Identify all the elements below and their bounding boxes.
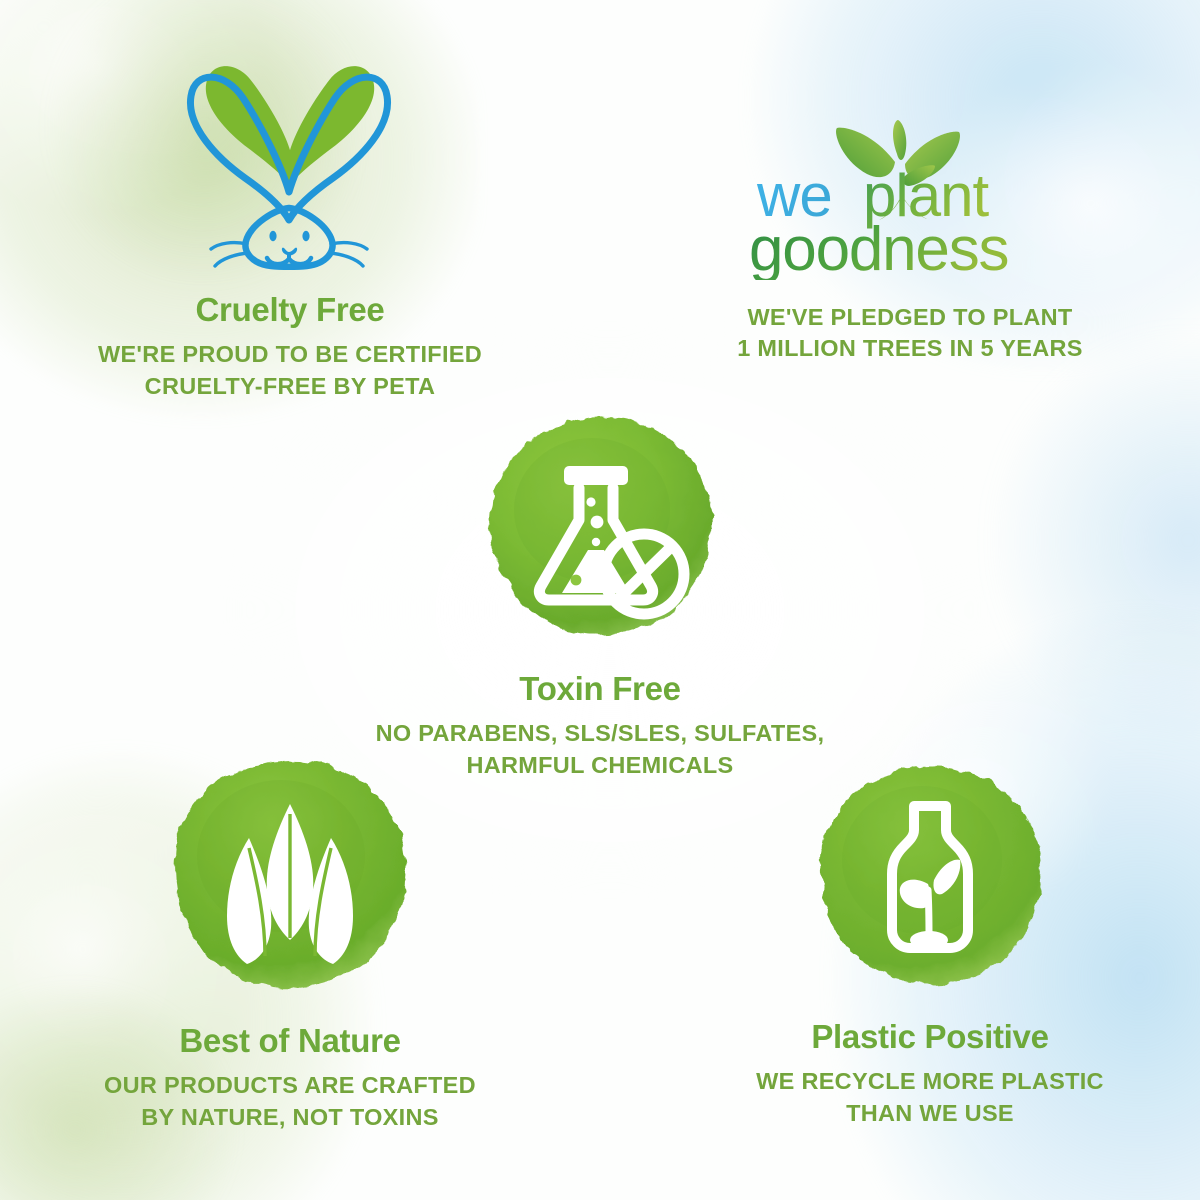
bunny-right-eye xyxy=(302,231,309,241)
three-leaves-icon xyxy=(165,752,415,1007)
badge-subtitle-plastic-positive: WE RECYCLE MORE PLASTIC THAN WE USE xyxy=(660,1066,1200,1129)
logo-word-goodness: goodness xyxy=(749,215,1008,280)
badge-best-of-nature: Best of Nature OUR PRODUCTS ARE CRAFTED … xyxy=(20,752,560,1133)
bunny-left-eye xyxy=(269,231,276,241)
badge-plastic-positive: Plastic Positive WE RECYCLE MORE PLASTIC… xyxy=(660,758,1200,1129)
bottle-sprout-icon xyxy=(810,758,1050,1003)
flask-prohibited-icon xyxy=(480,410,720,655)
badge-cruelty-free: Cruelty Free WE'RE PROUD TO BE CERTIFIED… xyxy=(0,40,580,402)
infographic-canvas: Cruelty Free WE'RE PROUD TO BE CERTIFIED… xyxy=(0,0,1200,1200)
peta-cruelty-free-bunny-icon xyxy=(0,40,580,270)
badge-we-plant-goodness: we plant goodness WE'VE PLEDGED TO PLANT… xyxy=(620,120,1200,365)
badge-subtitle-best-of-nature: OUR PRODUCTS ARE CRAFTED BY NATURE, NOT … xyxy=(20,1070,560,1133)
badge-title-cruelty-free: Cruelty Free xyxy=(0,292,580,328)
badge-title-plastic-positive: Plastic Positive xyxy=(660,1019,1200,1055)
badge-title-toxin-free: Toxin Free xyxy=(320,671,880,707)
badge-subtitle-we-plant-goodness: WE'VE PLEDGED TO PLANT 1 MILLION TREES I… xyxy=(620,302,1200,365)
bunny-whisker-right-1 xyxy=(331,243,367,249)
bunny-whisker-left-2 xyxy=(215,253,249,266)
bunny-muzzle-right xyxy=(289,258,311,264)
bunny-muzzle-left xyxy=(267,258,289,264)
bunny-whisker-left-1 xyxy=(211,243,247,249)
badge-title-best-of-nature: Best of Nature xyxy=(20,1023,560,1059)
watercolor-wash-right-blue xyxy=(990,330,1200,750)
we-plant-goodness-logo: we plant goodness xyxy=(620,120,1200,280)
badge-toxin-free: Toxin Free No PARABENS, SLS/SLES, SULFAT… xyxy=(320,410,880,781)
badge-subtitle-cruelty-free: WE'RE PROUD TO BE CERTIFIED CRUELTY-FREE… xyxy=(0,339,580,402)
sprout-leaf-center xyxy=(893,120,906,160)
bunny-whisker-right-2 xyxy=(329,253,363,266)
